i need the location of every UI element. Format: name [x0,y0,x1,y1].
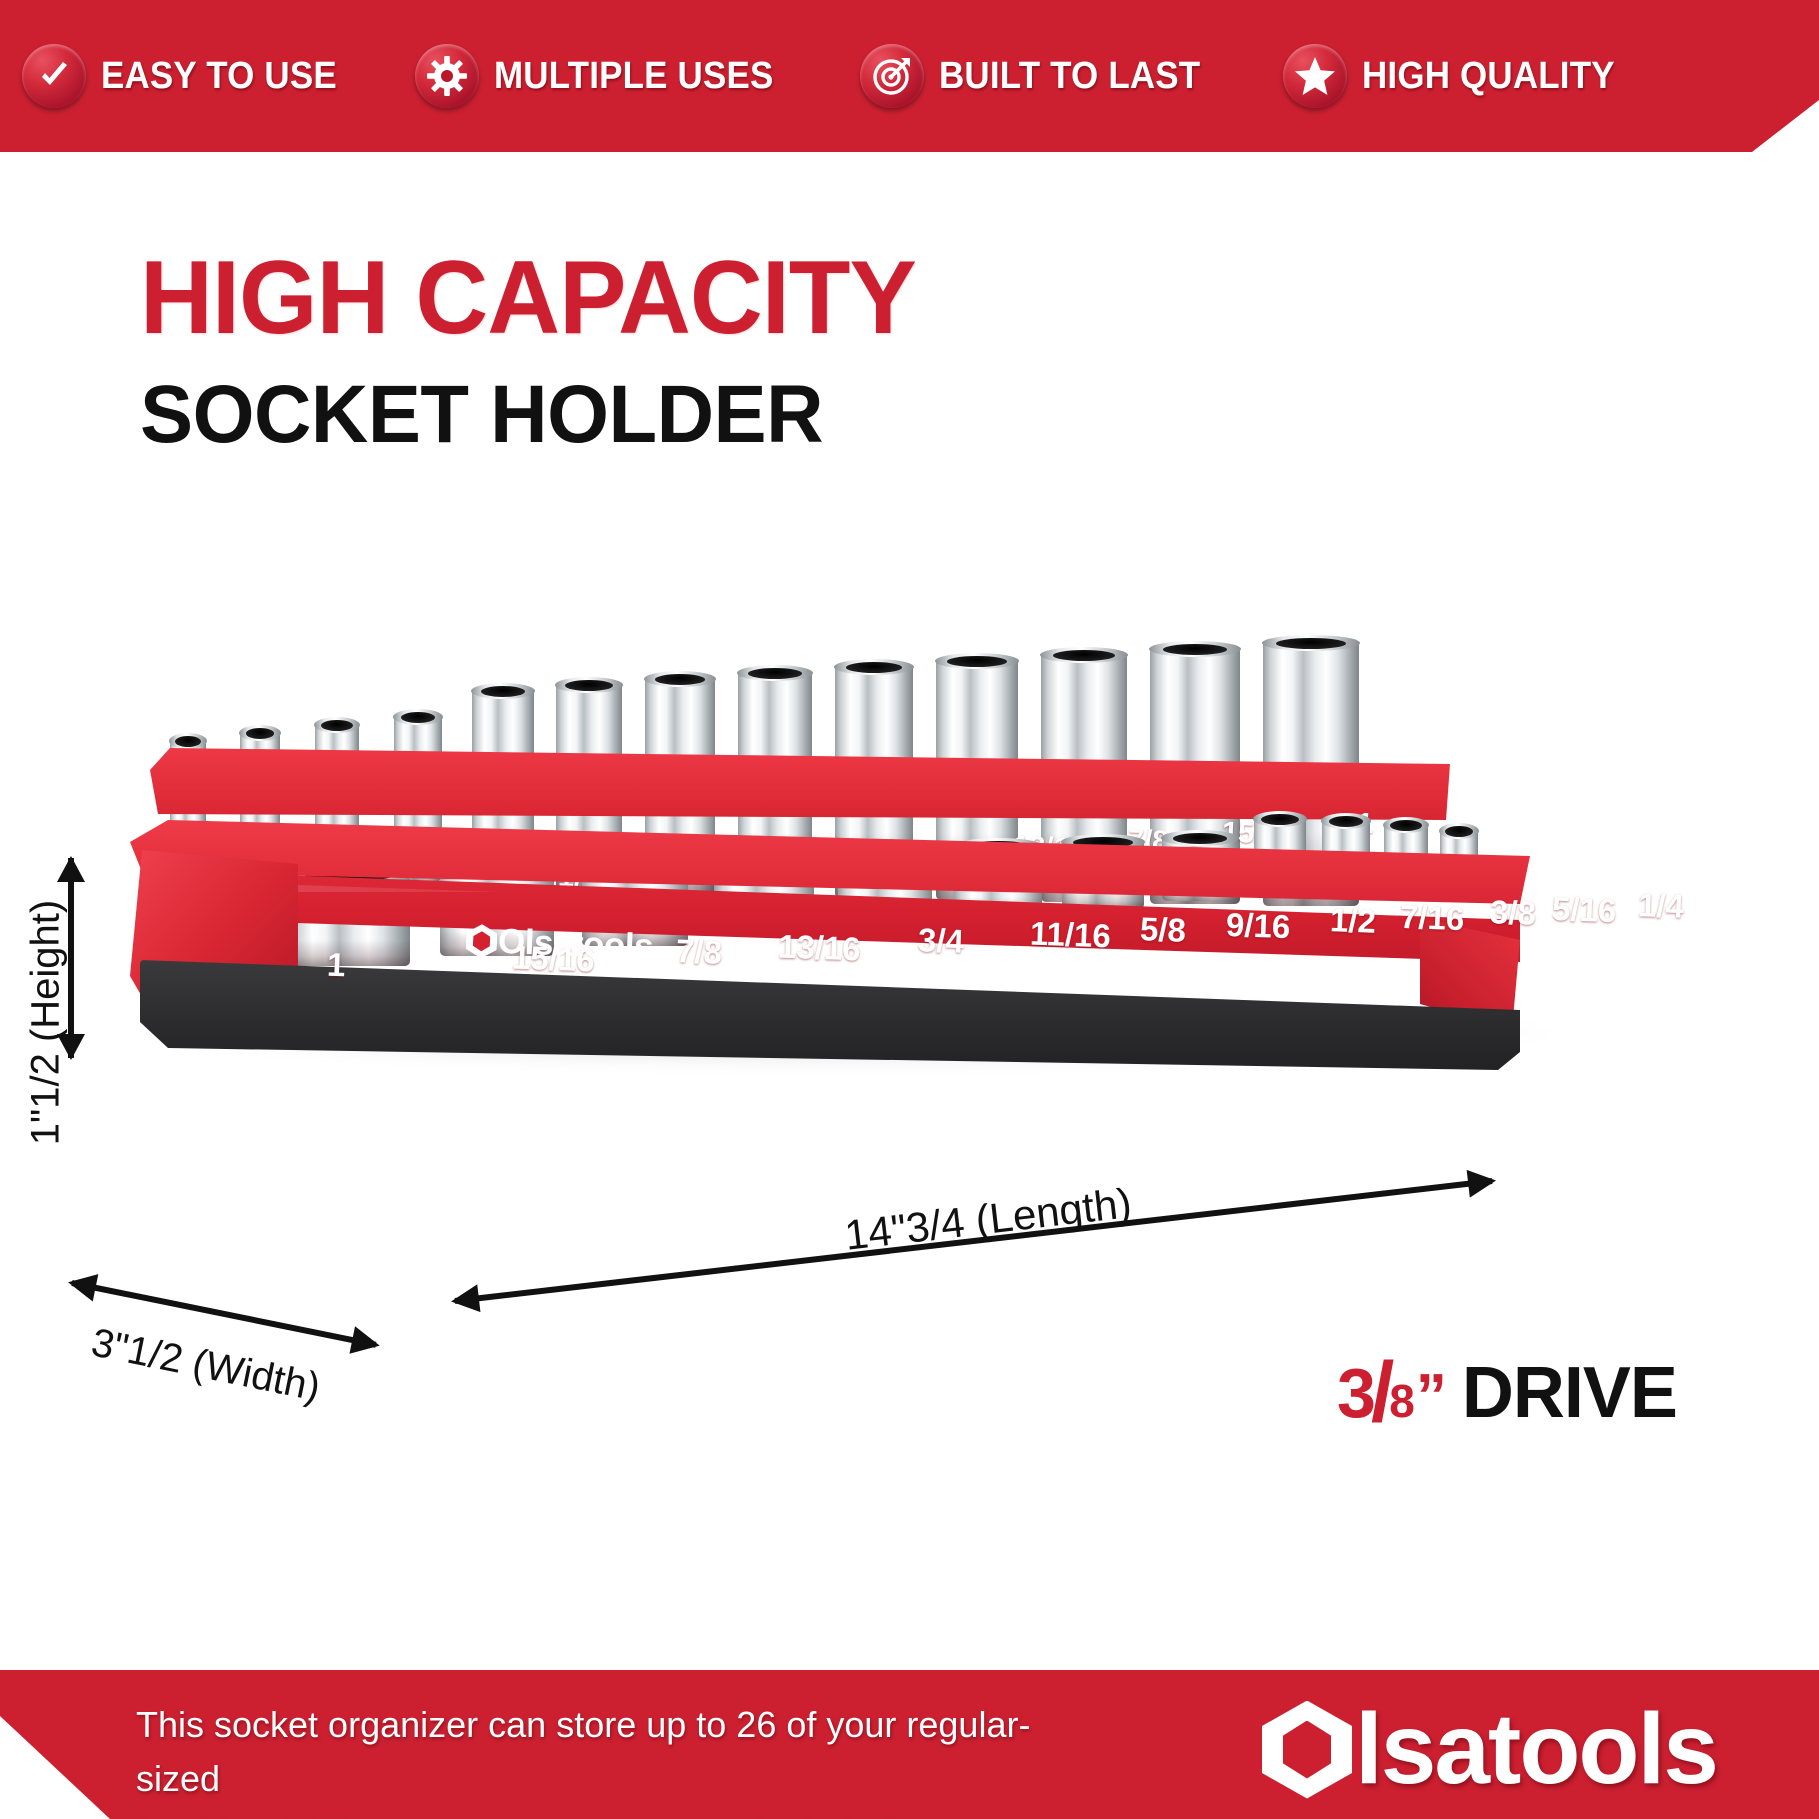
size-label-front: 11/16 [1029,915,1111,956]
dimension-width: 3"1/2 (Width) [58,1262,378,1362]
footer-banner: This socket organizer can store up to 26… [0,1670,1819,1819]
dimension-height-label: 1"1/2 (Height) [24,853,69,1193]
hex-o-mark-icon [1262,1701,1352,1799]
feature-badge-label: BUILT TO LAST [939,55,1200,98]
size-label-front: 1/4 [1637,886,1684,926]
feature-badge-label: HIGH QUALITY [1362,55,1615,98]
feature-badge-multiple-uses: MULTIPLE USES [415,44,798,108]
size-label-front: 7/16 [1399,898,1465,938]
drive-size-callout: 3/8” DRIVE [1337,1340,1677,1437]
drive-numerator: 3 [1337,1353,1375,1433]
top-feature-banner: EASY TO USE MULTIPLE USES [0,0,1819,152]
size-label-front: 1/2 [1329,901,1376,941]
dimension-width-label: 3"1/2 (Width) [88,1320,324,1410]
drive-inch-mark: ” [1416,1361,1446,1432]
product-infographic: EASY TO USE MULTIPLE USES [0,0,1819,1819]
feature-badge-label: EASY TO USE [101,55,337,98]
headline-line-2: SOCKET HOLDER [140,374,916,456]
drive-denominator: 8 [1389,1374,1414,1428]
footer-brand-text: lsatools [1355,1692,1717,1807]
size-label-front: 5/8 [1139,910,1186,950]
feature-badge-built-to-last: BUILT TO LAST [860,44,1223,108]
size-label-front: 3/8 [1489,893,1536,933]
size-label-front: 1 [326,946,346,985]
holder-brand-text: Olsatools [497,922,653,968]
headline-block: HIGH CAPACITY SOCKET HOLDER [140,246,940,456]
hex-o-mark-icon [465,924,497,959]
size-label-front: 13/16 [777,927,861,968]
footer-description: This socket organizer can store up to 26… [136,1698,1096,1819]
footer-description-line-2: ⅜” drive SAE sockets (sockets are not in… [136,1806,1096,1819]
size-label-front: 9/16 [1225,906,1291,946]
headline-line-1: HIGH CAPACITY [140,246,916,350]
feature-badge-label: MULTIPLE USES [494,55,774,98]
dimension-length: 14"3/4 (Length) [455,1150,1525,1330]
star-icon [1283,44,1347,108]
dimension-length-label: 14"3/4 (Length) [842,1179,1134,1260]
feature-badge-high-quality: HIGH QUALITY [1283,44,1637,108]
drive-word-label: DRIVE [1462,1352,1677,1434]
feature-badge-easy-to-use: EASY TO USE [22,44,357,108]
footer-description-line-1: This socket organizer can store up to 26… [136,1698,1096,1806]
size-label-front: 5/16 [1551,890,1617,930]
gear-icon [415,44,479,108]
check-circle-icon [22,44,86,108]
size-label-front: 7/8 [675,932,722,972]
product-photo: 1/4 5/16 3/8 7/16 1/2 9/16 5/8 11/16 3/4… [0,620,1819,1240]
target-arrow-icon [860,44,924,108]
holder-brand-logo: Olsatools [465,921,653,968]
height-arrow-icon [68,858,74,1058]
drive-fraction: 3/8” [1337,1340,1446,1437]
size-label-front: 3/4 [917,921,964,961]
footer-brand-logo: lsatools [1262,1692,1717,1807]
